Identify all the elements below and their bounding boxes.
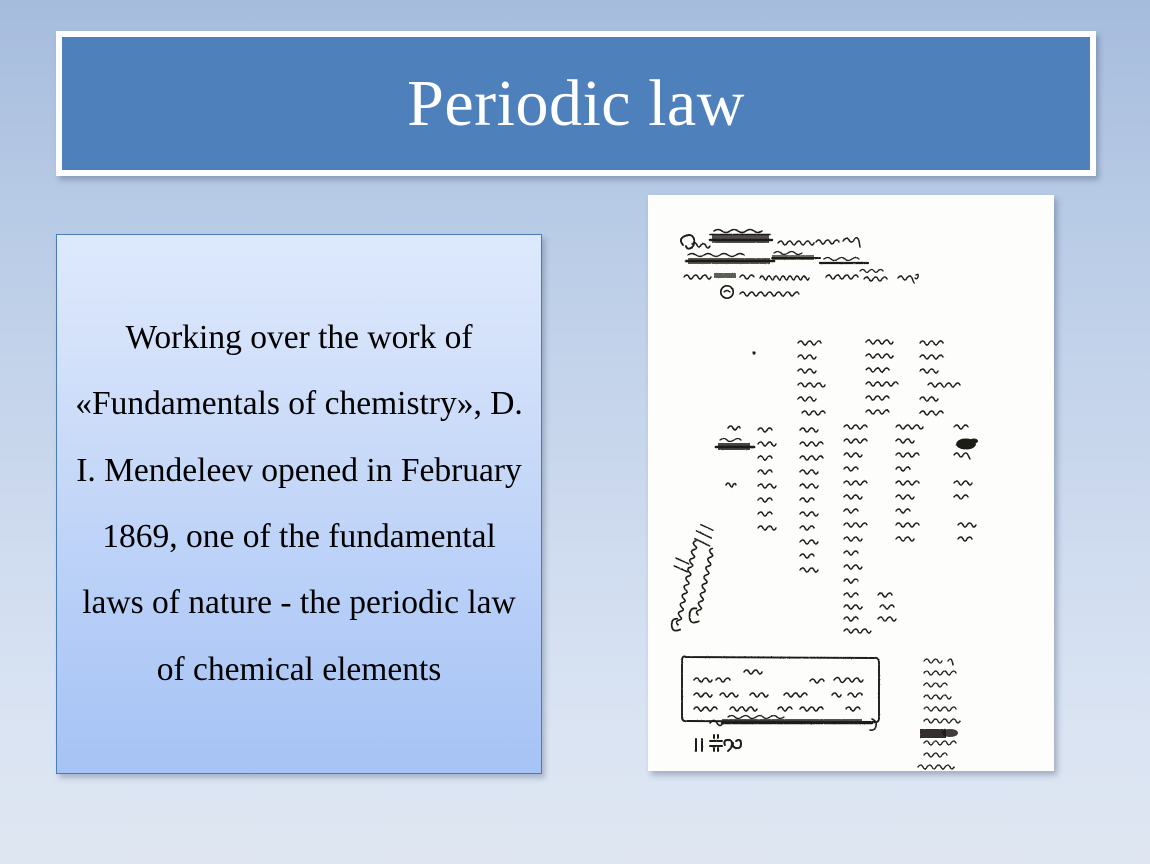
- body-paragraph: Working over the work of «Fundamentals o…: [71, 305, 527, 703]
- manuscript-handwriting-illustration: [648, 195, 1054, 771]
- slide-canvas: Periodic law Working over the work of «F…: [0, 0, 1150, 864]
- page-title: Periodic law: [407, 71, 745, 137]
- manuscript-image: [648, 195, 1054, 771]
- body-text-box: Working over the work of «Fundamentals o…: [56, 234, 542, 774]
- title-box: Periodic law: [62, 37, 1090, 170]
- title-frame: Periodic law: [56, 31, 1096, 176]
